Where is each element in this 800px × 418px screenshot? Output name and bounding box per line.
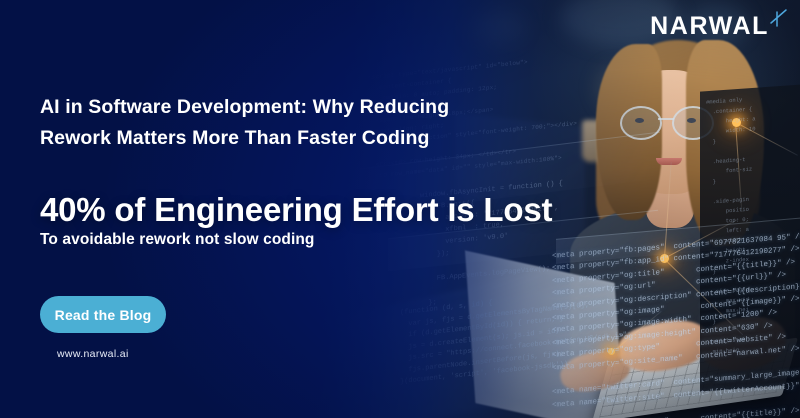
- page-title: AI in Software Development: Why Reducing…: [40, 92, 470, 154]
- narwhal-tusk-icon: [766, 14, 788, 40]
- narwal-logo[interactable]: NARWAL: [650, 14, 788, 40]
- stat-value: 40% of Engineering Effort is Lost: [40, 192, 552, 228]
- website-url[interactable]: www.narwal.ai: [57, 348, 129, 360]
- content-layer: NARWAL AI in Software Development: Why R…: [0, 0, 800, 418]
- marketing-banner: <script type="text/javascript" id="below…: [0, 0, 800, 418]
- headline-line-2: Rework Matters More Than Faster Coding: [40, 123, 470, 154]
- read-the-blog-button[interactable]: Read the Blog: [40, 296, 166, 333]
- logo-wordmark: NARWAL: [650, 14, 769, 39]
- headline-line-1: AI in Software Development: Why Reducing: [40, 92, 470, 123]
- stat-subtitle: To avoidable rework not slow coding: [40, 231, 315, 249]
